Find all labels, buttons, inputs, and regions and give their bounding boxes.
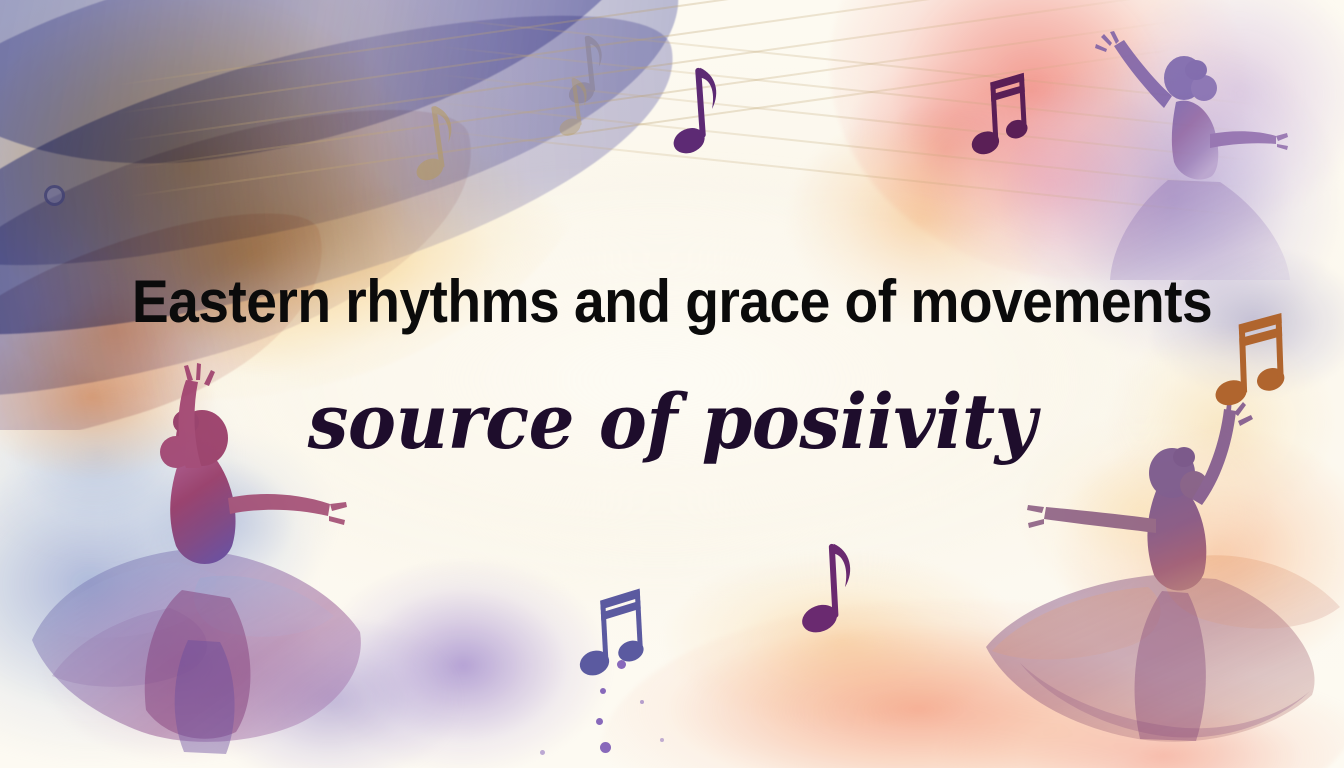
paint-speck [600, 688, 606, 694]
dancer-top-right [1080, 30, 1320, 280]
music-staff-lines-secondary [423, 0, 1257, 262]
ribbon-wave-lavender [0, 0, 707, 299]
subline-text: source of posiivity [34, 384, 1311, 460]
paint-speck [600, 742, 611, 753]
headline-text: Eastern rhythms and grace of movements [54, 272, 1290, 332]
music-staff-lines [109, 0, 1191, 293]
note-beamed-blue-bottom [576, 586, 651, 682]
wash-orange-bottom-right [980, 420, 1344, 750]
note-eighth-purple-top [667, 60, 730, 160]
poster-canvas: Eastern rhythms and grace of movements s… [0, 0, 1344, 768]
note-eighth-gold-staff [406, 95, 469, 187]
wash-gold-top-left [0, 0, 610, 400]
paint-speck [640, 700, 644, 704]
ribbon-wave-blue [0, 0, 705, 199]
ribbon-wave-group [0, 0, 780, 430]
paint-speck [540, 750, 545, 755]
paint-speck [660, 738, 664, 742]
note-beamed-purple-top-right [968, 68, 1035, 161]
wash-coral-top-right [830, 0, 1310, 280]
note-eighth-purple-bottom [797, 536, 862, 639]
note-eighth-grey-top [561, 28, 615, 110]
wash-violet-bottom-left [180, 620, 480, 768]
wash-peach-bottom [640, 540, 1060, 750]
note-eighth-gold-staff-secondary [552, 70, 601, 141]
paint-speck [596, 718, 603, 725]
wash-mauve-bottom-left [20, 560, 360, 768]
wash-coral-bottom [600, 600, 1344, 768]
wash-violet-top-right-outer [1090, 0, 1344, 220]
wash-violet-bottom [300, 560, 640, 768]
ribbon-accent-dot [44, 185, 65, 206]
paint-speck [617, 660, 626, 669]
